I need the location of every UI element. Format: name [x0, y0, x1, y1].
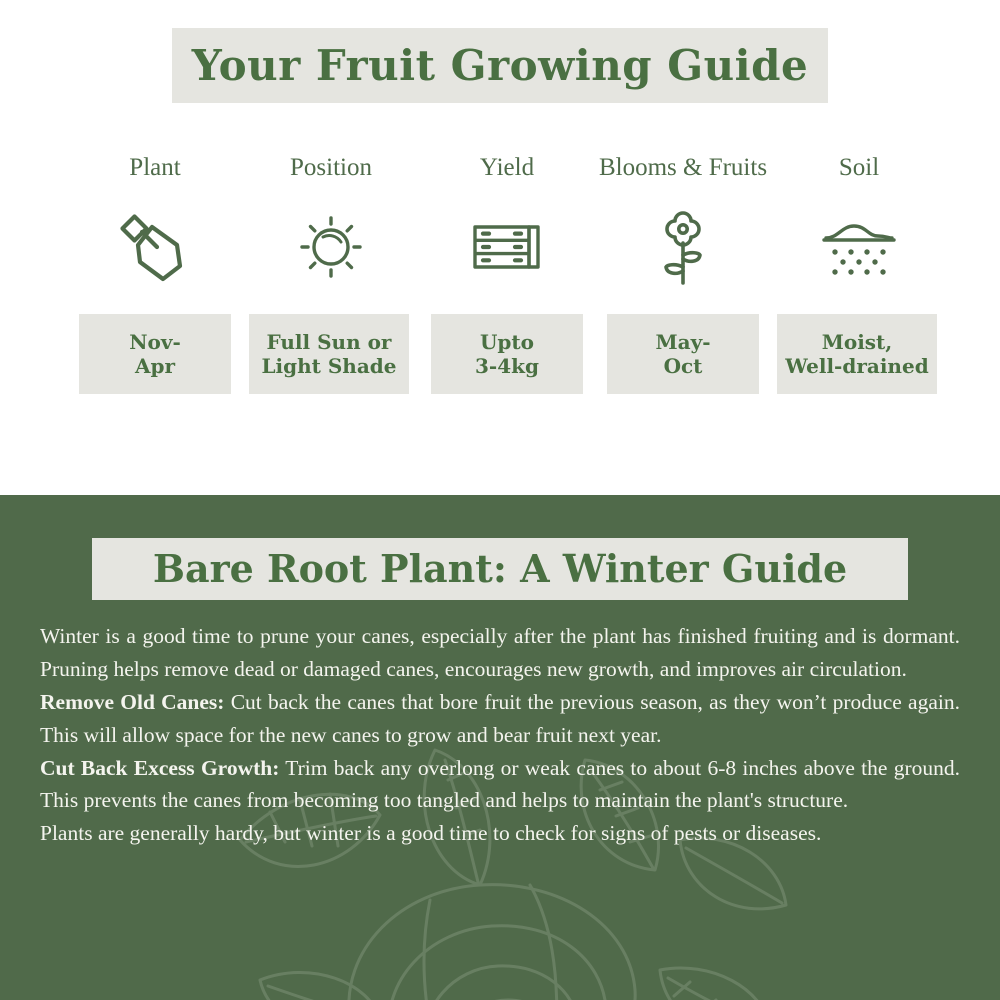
attribute-value-position-line2: Light Shade — [261, 354, 396, 378]
attribute-label-soil: Soil — [839, 155, 879, 180]
attribute-value-blooms-fruits-line2: Oct — [664, 354, 703, 378]
guide-paragraph-text: Winter is a good time to prune your cane… — [40, 624, 960, 681]
winter-guide-section: Bare Root Plant: A Winter Guide Winter i… — [0, 495, 1000, 1000]
attribute-label-yield: Yield — [480, 155, 534, 180]
attribute-value-position-line1: Full Sun or — [267, 330, 392, 354]
page-title: Your Fruit Growing Guide — [192, 45, 808, 87]
guide-paragraph: Remove Old Canes: Cut back the canes tha… — [40, 686, 960, 752]
growing-guide-top-section: Your Fruit Growing Guide Plant Nov- Apr — [0, 0, 1000, 495]
attribute-column-position: Position Full Sun or L — [255, 155, 407, 394]
section-title-band: Bare Root Plant: A Winter Guide — [92, 538, 908, 600]
guide-paragraph: Plants are generally hardy, but winter i… — [40, 817, 960, 850]
page-title-band: Your Fruit Growing Guide — [172, 28, 828, 103]
guide-paragraph-lead: Cut Back Excess Growth: — [40, 756, 279, 780]
attribute-value-yield-line2: 3-4kg — [475, 354, 539, 378]
guide-paragraph-lead: Remove Old Canes: — [40, 690, 224, 714]
flower-icon — [655, 208, 711, 286]
attribute-column-blooms-fruits: Blooms & Fruits May- Oct — [607, 155, 759, 394]
attribute-label-blooms-fruits: Blooms & Fruits — [599, 155, 767, 180]
attribute-label-position: Position — [290, 155, 372, 180]
attribute-value-position: Full Sun or Light Shade — [249, 314, 409, 394]
guide-paragraph: Winter is a good time to prune your cane… — [40, 620, 960, 686]
guide-body: Winter is a good time to prune your cane… — [40, 620, 960, 850]
attribute-grid: Plant Nov- Apr Position — [0, 155, 1000, 394]
attribute-value-soil-line2: Well-drained — [785, 354, 928, 378]
attribute-value-plant-line2: Apr — [135, 354, 175, 378]
attribute-value-blooms-fruits-line1: May- — [655, 330, 710, 354]
attribute-value-blooms-fruits: May- Oct — [607, 314, 759, 394]
soil-icon — [818, 208, 900, 286]
guide-paragraph: Cut Back Excess Growth: Trim back any ov… — [40, 752, 960, 818]
attribute-column-yield: Yield Upto 3-4kg — [431, 155, 583, 394]
attribute-column-soil: Soil — [783, 155, 935, 394]
trowel-icon — [116, 208, 194, 286]
guide-paragraph-text: Plants are generally hardy, but winter i… — [40, 821, 821, 845]
attribute-label-plant: Plant — [129, 155, 180, 180]
attribute-value-plant: Nov- Apr — [79, 314, 231, 394]
section-title: Bare Root Plant: A Winter Guide — [153, 550, 847, 588]
attribute-value-soil-line1: Moist, — [822, 330, 893, 354]
crate-icon — [468, 208, 546, 286]
sun-icon — [294, 208, 368, 286]
attribute-value-yield: Upto 3-4kg — [431, 314, 583, 394]
attribute-value-soil: Moist, Well-drained — [777, 314, 937, 394]
attribute-value-plant-line1: Nov- — [129, 330, 181, 354]
attribute-value-yield-line1: Upto — [480, 330, 534, 354]
attribute-column-plant: Plant Nov- Apr — [79, 155, 231, 394]
